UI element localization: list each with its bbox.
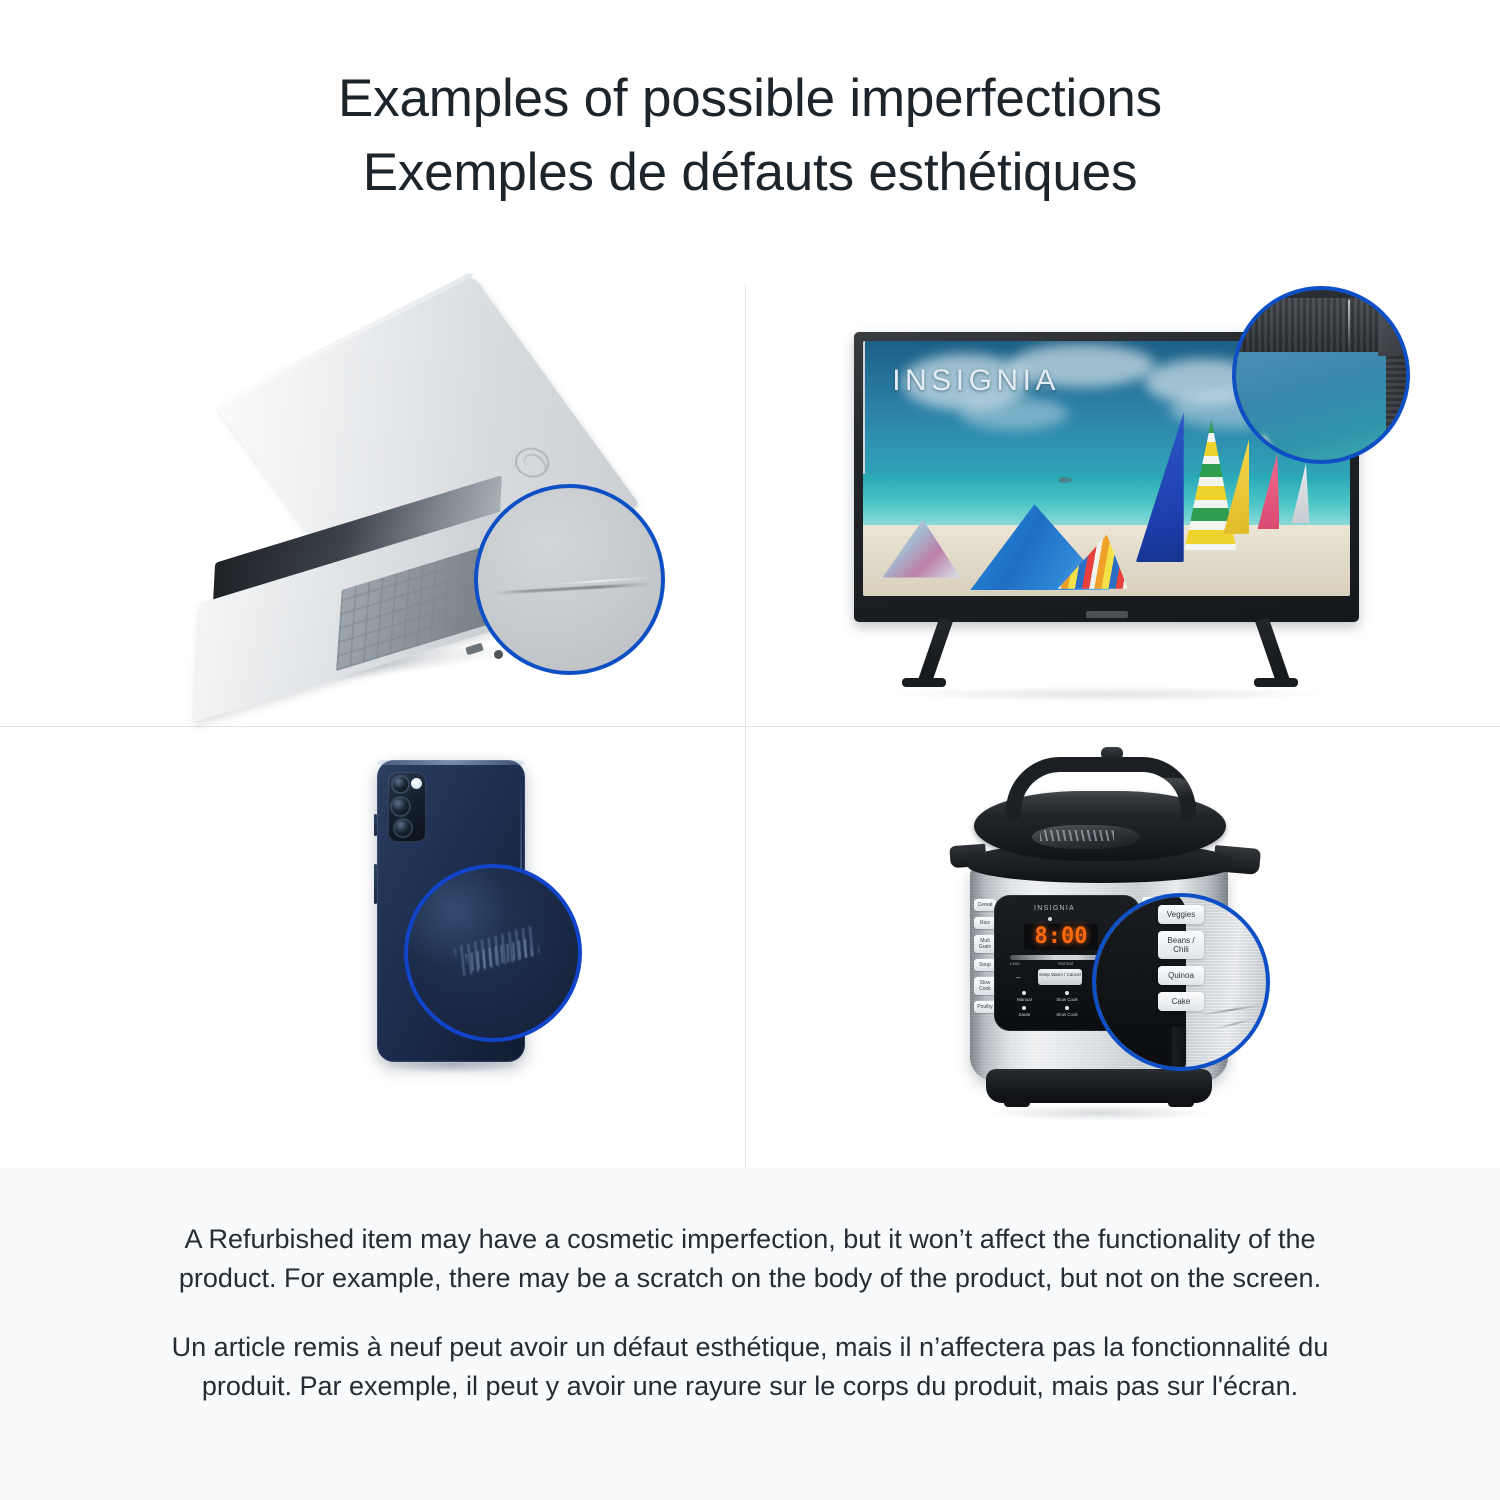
magnifier-laptop-scratch <box>474 484 665 675</box>
television-front-badge <box>1086 611 1128 618</box>
disclaimer-french: Un article remis à neuf peut avoir un dé… <box>170 1298 1330 1406</box>
cooker-key[interactable]: Soup <box>974 959 996 971</box>
cooker-program-button[interactable]: Manual <box>1006 991 1043 1002</box>
magnified-bezel-corner <box>1378 294 1410 356</box>
cooker-program-button[interactable]: Slow Cook <box>1049 991 1086 1002</box>
magnified-keypad: Veggies Beans / Chili Quinoa Cake <box>1158 905 1204 1011</box>
magnifier-television-bezel <box>1232 286 1410 464</box>
cooker-program-button[interactable]: Slow Cook <box>1049 1006 1086 1017</box>
magnified-cooker-key: Quinoa <box>1158 966 1204 985</box>
smartphone-power-button <box>374 864 377 904</box>
smartphone-volume-button <box>374 814 377 836</box>
magnified-cooker-key: Cake <box>1158 992 1204 1011</box>
magnified-panel-edge <box>1172 1027 1188 1071</box>
cooker-lid-vent-plate <box>1032 825 1140 849</box>
magnifier-cooker-scratch: elay w Cook Veggies Beans / Chili Quinoa… <box>1092 893 1270 1071</box>
television-foot-left <box>902 678 946 687</box>
smartphone-top-edge <box>377 760 525 765</box>
example-cell-laptop <box>0 285 745 726</box>
cooker-decrement-button[interactable]: – <box>1016 973 1020 982</box>
television-leg-right <box>1255 618 1290 687</box>
example-cell-pressure-cooker: Cereal Rice Mult Grain Soup Slow Cook Po… <box>746 727 1491 1168</box>
cooker-shadow <box>990 1105 1210 1121</box>
cooker-foot-left <box>1004 1099 1030 1107</box>
infographic-page: Examples of possible imperfections Exemp… <box>0 0 1500 1500</box>
television-brand-label: INSIGNIA <box>892 364 1060 398</box>
cooker-key[interactable]: Mult Grain <box>974 935 996 953</box>
cooker-key[interactable]: Poultry <box>974 1001 996 1013</box>
page-title: Examples of possible imperfections Exemp… <box>0 62 1500 210</box>
camera-lens-icon <box>392 798 409 815</box>
pressure-cooker-illustration: Cereal Rice Mult Grain Soup Slow Cook Po… <box>946 739 1286 1139</box>
smartphone-illustration <box>355 752 635 1122</box>
cooker-timer-display: 8:00 <box>1024 924 1098 950</box>
cooker-keypad-left[interactable]: Cereal Rice Mult Grain Soup Slow Cook Po… <box>974 899 996 1013</box>
magnified-screen-area <box>1232 348 1394 464</box>
television-illustration: INSIGNIA <box>854 300 1414 720</box>
television-leg-left <box>917 618 952 687</box>
example-cell-smartphone <box>0 727 745 1168</box>
cooker-status-led <box>1048 917 1052 921</box>
cooker-pressure-valve-icon <box>1101 747 1123 760</box>
cooker-keep-warm-cancel-button[interactable]: Keep Warm / Cancel <box>1038 969 1082 985</box>
laptop-illustration <box>185 305 705 725</box>
camera-lens-icon <box>393 777 408 792</box>
magnifier-smartphone-scratch <box>404 864 582 1042</box>
page-title-english: Examples of possible imperfections <box>0 62 1500 136</box>
television-foot-right <box>1254 678 1298 687</box>
smartphone-camera-module <box>388 772 426 842</box>
cooker-key[interactable]: Slow Cook <box>974 977 996 995</box>
cooker-lid-handle <box>1006 757 1196 819</box>
page-title-french: Exemples de défauts esthétiques <box>0 136 1500 210</box>
camera-lens-icon <box>395 820 411 836</box>
disclaimer-english: A Refurbished item may have a cosmetic i… <box>170 1168 1330 1298</box>
cooker-brand-label: INSIGNIA <box>1034 905 1075 912</box>
television-scratch-mark <box>1348 300 1350 350</box>
footer-disclaimer: A Refurbished item may have a cosmetic i… <box>0 1168 1500 1500</box>
slider-label-less: Less <box>1010 961 1020 966</box>
camera-flash-icon <box>411 778 422 789</box>
cooker-base <box>986 1069 1212 1103</box>
cloud <box>960 397 1067 430</box>
cooker-foot-right <box>1168 1099 1194 1107</box>
laptop-brand-logo-icon <box>511 445 554 481</box>
television-shadow <box>884 686 1334 702</box>
examples-grid: INSIGNIA <box>0 285 1500 1168</box>
cooker-key[interactable]: Cereal <box>974 899 996 911</box>
laptop-scratch-mark <box>494 582 652 594</box>
magnified-cooker-key: Beans / Chili <box>1158 931 1204 959</box>
example-cell-television: INSIGNIA <box>746 285 1491 726</box>
magnified-cooker-key: Veggies <box>1158 905 1204 924</box>
cooker-key[interactable]: Rice <box>974 917 996 929</box>
cooker-program-button[interactable]: Saute <box>1006 1006 1043 1017</box>
slider-label-normal: Normal <box>1058 961 1073 966</box>
